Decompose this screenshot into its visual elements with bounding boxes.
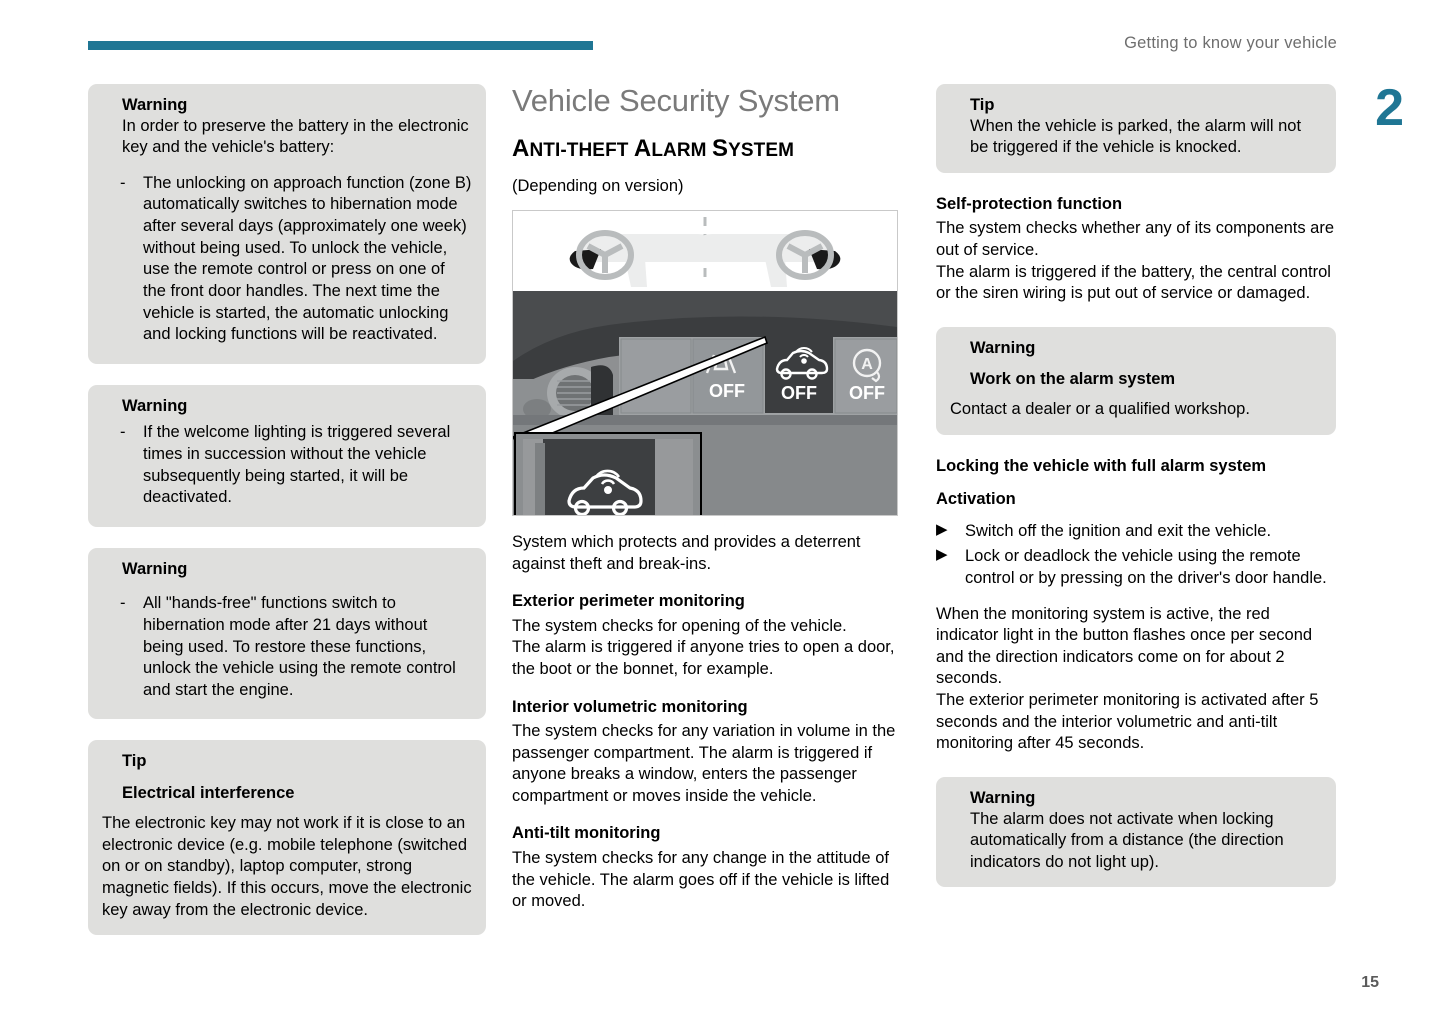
list-item-text: All "hands-free" functions switch to hib… bbox=[143, 594, 456, 698]
callout-subtitle: Electrical interference bbox=[122, 784, 472, 803]
callout-warning-work-on-alarm-system: Warning Work on the alarm system Contact… bbox=[936, 327, 1336, 435]
sub-section-cap-c: A bbox=[634, 135, 651, 162]
callout-header: Tip bbox=[950, 94, 1322, 116]
svg-text:A: A bbox=[861, 356, 873, 373]
button-label-lane: OFF bbox=[709, 381, 745, 401]
page-header: Getting to know your vehicle bbox=[0, 0, 1445, 62]
sub-section-smallcaps-f: YSTEM bbox=[728, 140, 794, 161]
running-header-title: Getting to know your vehicle bbox=[1124, 34, 1337, 53]
callout-title: Warning bbox=[122, 94, 187, 116]
paragraph: The alarm is triggered if the battery, t… bbox=[936, 262, 1336, 305]
depending-on-version-note: (Depending on version) bbox=[512, 176, 902, 198]
callout-body: In order to preserve the battery in the … bbox=[102, 116, 472, 159]
callout-body: When the vehicle is parked, the alarm wi… bbox=[950, 116, 1322, 159]
callout-title: Warning bbox=[122, 558, 187, 580]
sub-section-cap-e: S bbox=[712, 135, 728, 162]
list-item: ▶ Lock or deadlock the vehicle using the… bbox=[936, 546, 1336, 589]
list-item: ▶ Switch off the ignition and exit the v… bbox=[936, 521, 1336, 543]
callout-title: Warning bbox=[122, 395, 187, 417]
callout-header: Warning bbox=[102, 558, 472, 580]
page-number: 15 bbox=[1361, 974, 1379, 992]
warning-exclamation-icon bbox=[950, 787, 961, 807]
dash-bullet: - bbox=[120, 422, 126, 444]
callout-title: Warning bbox=[970, 337, 1035, 359]
heading-self-protection-function: Self-protection function bbox=[936, 194, 1336, 215]
warning-exclamation-icon bbox=[102, 558, 113, 578]
heading-exterior-perimeter-monitoring: Exterior perimeter monitoring bbox=[512, 591, 902, 612]
list-item-text: Switch off the ignition and exit the veh… bbox=[965, 522, 1271, 540]
warning-hands-free-list: - All "hands-free" functions switch to h… bbox=[102, 593, 472, 701]
column-left: Warning In order to preserve the battery… bbox=[88, 84, 486, 956]
figure-caption: System which protects and provides a det… bbox=[512, 532, 902, 575]
sub-section-smallcaps-b: NTI-THEFT bbox=[529, 140, 633, 161]
paragraph: The system checks for any change in the … bbox=[512, 848, 902, 913]
callout-header: Warning bbox=[950, 337, 1322, 359]
callout-warning-battery: Warning In order to preserve the battery… bbox=[88, 84, 486, 364]
button-label-alarm: OFF bbox=[781, 383, 817, 403]
list-item-text: The unlocking on approach function (zone… bbox=[143, 174, 471, 343]
callout-warning-hands-free: Warning - All "hands-free" functions swi… bbox=[88, 548, 486, 720]
paragraph: The system checks whether any of its com… bbox=[936, 218, 1336, 261]
activation-steps-list: ▶ Switch off the ignition and exit the v… bbox=[936, 521, 1336, 590]
tip-info-icon bbox=[102, 750, 113, 752]
list-item: - All "hands-free" functions switch to h… bbox=[102, 593, 472, 701]
callout-title: Tip bbox=[122, 750, 146, 772]
callout-body: Contact a dealer or a qualified workshop… bbox=[950, 399, 1322, 421]
dash-bullet: - bbox=[120, 593, 126, 615]
callout-header: Tip bbox=[102, 750, 472, 772]
page-title: Vehicle Security System bbox=[512, 84, 902, 118]
warning-battery-list: - The unlocking on approach function (zo… bbox=[102, 173, 472, 346]
callout-header: Warning bbox=[102, 94, 472, 116]
sub-section-smallcaps-d: LARM bbox=[651, 140, 712, 161]
dash-bullet: - bbox=[120, 173, 126, 195]
tip-info-icon bbox=[950, 94, 961, 96]
paragraph: The alarm is triggered if anyone tries t… bbox=[512, 637, 902, 680]
callout-tip-electrical-interference: Tip Electrical interference The electron… bbox=[88, 740, 486, 935]
paragraph: The system checks for opening of the veh… bbox=[512, 616, 902, 638]
list-item-text: Lock or deadlock the vehicle using the r… bbox=[965, 547, 1327, 587]
warning-exclamation-icon bbox=[102, 395, 113, 415]
sub-section-cap-a: A bbox=[512, 135, 529, 162]
chapter-number: 2 bbox=[1375, 82, 1403, 134]
callout-body: The electronic key may not work if it is… bbox=[102, 813, 472, 921]
heading-anti-tilt-monitoring: Anti-tilt monitoring bbox=[512, 823, 902, 844]
callout-subtitle: Work on the alarm system bbox=[970, 370, 1322, 389]
paragraph: The exterior perimeter monitoring is act… bbox=[936, 690, 1336, 755]
callout-title: Tip bbox=[970, 94, 994, 116]
header-rule bbox=[88, 41, 593, 50]
illustration-svg: OFF OFF A OFF bbox=[513, 211, 897, 515]
callout-header: Warning bbox=[950, 787, 1322, 809]
callout-body: The alarm does not activate when locking… bbox=[950, 809, 1322, 874]
heading-interior-volumetric-monitoring: Interior volumetric monitoring bbox=[512, 697, 902, 718]
warning-exclamation-icon bbox=[950, 337, 961, 357]
warning-exclamation-icon bbox=[102, 94, 113, 114]
list-item: - The unlocking on approach function (zo… bbox=[102, 173, 472, 346]
column-middle: Vehicle Security System ANTI-THEFT ALARM… bbox=[512, 84, 902, 913]
arrow-bullet-icon: ▶ bbox=[936, 520, 948, 540]
button-label-stopstart: OFF bbox=[849, 383, 885, 403]
callout-warning-automatic-locking: Warning The alarm does not activate when… bbox=[936, 777, 1336, 887]
callout-warning-welcome-lighting: Warning - If the welcome lighting is tri… bbox=[88, 385, 486, 527]
heading-locking-with-full-alarm: Locking the vehicle with full alarm syst… bbox=[936, 456, 1336, 477]
heading-activation: Activation bbox=[936, 489, 1336, 510]
sub-section-title: ANTI-THEFT ALARM SYSTEM bbox=[512, 136, 902, 162]
list-item: - If the welcome lighting is triggered s… bbox=[102, 422, 472, 508]
arrow-bullet-icon: ▶ bbox=[936, 545, 948, 565]
callout-header: Warning bbox=[102, 395, 472, 417]
column-right: Tip When the vehicle is parked, the alar… bbox=[936, 84, 1336, 908]
paragraph: The system checks for any variation in v… bbox=[512, 721, 902, 807]
paragraph: When the monitoring system is active, th… bbox=[936, 604, 1336, 690]
callout-tip-vehicle-parked: Tip When the vehicle is parked, the alar… bbox=[936, 84, 1336, 173]
dashboard-alarm-button-illustration: OFF OFF A OFF bbox=[512, 210, 898, 516]
list-item-text: If the welcome lighting is triggered sev… bbox=[143, 423, 450, 506]
warning-welcome-list: - If the welcome lighting is triggered s… bbox=[102, 422, 472, 508]
callout-title: Warning bbox=[970, 787, 1035, 809]
